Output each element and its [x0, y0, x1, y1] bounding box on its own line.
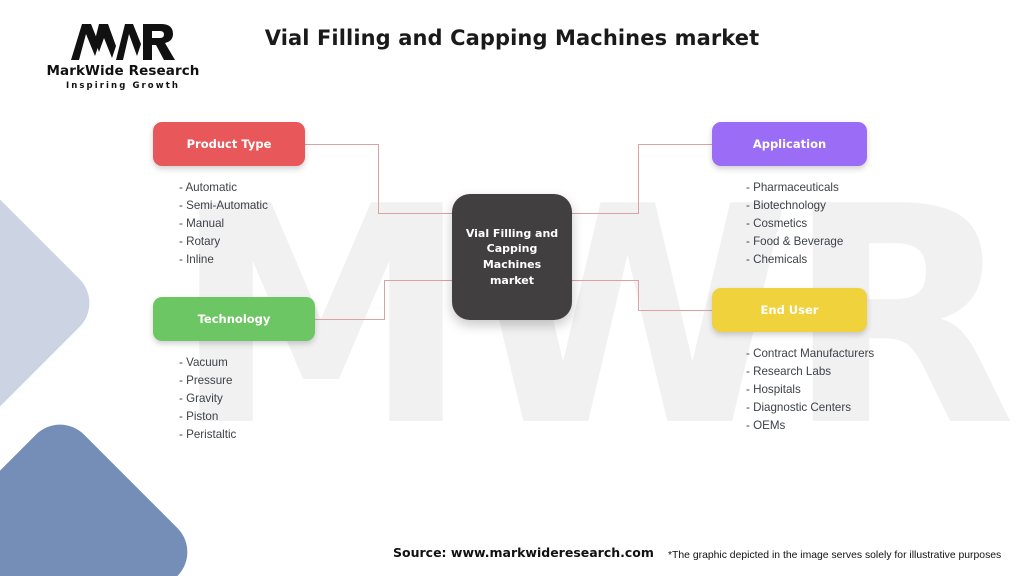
footer-source: Source: www.markwideresearch.com [393, 545, 654, 560]
list-item: - Pressure [179, 372, 315, 390]
node-end-user[interactable]: End User - Contract Manufacturers - Rese… [712, 288, 867, 435]
list-item: - Rotary [179, 233, 305, 251]
node-product-type-list: - Automatic - Semi-Automatic - Manual - … [153, 179, 305, 269]
node-end-user-list: - Contract Manufacturers - Research Labs… [712, 345, 867, 435]
node-application[interactable]: Application - Pharmaceuticals - Biotechn… [712, 122, 867, 269]
node-product-type-header[interactable]: Product Type [153, 122, 305, 166]
footer-disclaimer: *The graphic depicted in the image serve… [668, 550, 1001, 561]
connector-end-user-h2 [638, 310, 714, 311]
list-item: - OEMs [746, 417, 867, 435]
connector-technology-v [384, 280, 385, 320]
connector-end-user-h1 [566, 280, 639, 281]
node-product-type[interactable]: Product Type - Automatic - Semi-Automati… [153, 122, 305, 269]
list-item: - Diagnostic Centers [746, 399, 867, 417]
list-item: - Research Labs [746, 363, 867, 381]
list-item: - Contract Manufacturers [746, 345, 867, 363]
node-technology[interactable]: Technology - Vacuum - Pressure - Gravity… [153, 297, 315, 444]
node-technology-header[interactable]: Technology [153, 297, 315, 341]
list-item: - Vacuum [179, 354, 315, 372]
list-item: - Piston [179, 408, 315, 426]
list-item: - Gravity [179, 390, 315, 408]
decorative-shape-light [0, 155, 103, 452]
list-item: - Semi-Automatic [179, 197, 305, 215]
logo-company-name: MarkWide Research [18, 63, 228, 79]
node-application-header[interactable]: Application [712, 122, 867, 166]
connector-technology-h2 [384, 280, 458, 281]
list-item: - Chemicals [746, 251, 867, 269]
list-item: - Peristaltic [179, 426, 315, 444]
node-technology-list: - Vacuum - Pressure - Gravity - Piston -… [153, 354, 315, 444]
connector-application-h1 [566, 213, 639, 214]
connector-end-user-v [638, 280, 639, 311]
connector-application-h2 [638, 144, 714, 145]
center-node[interactable]: Vial Filling and Capping Machines market [452, 194, 572, 320]
list-item: - Biotechnology [746, 197, 867, 215]
list-item: - Manual [179, 215, 305, 233]
page-title: Vial Filling and Capping Machines market [0, 26, 1024, 50]
logo-tagline: Inspiring Growth [18, 81, 228, 91]
connector-product-type-v [378, 144, 379, 214]
connector-application-v [638, 144, 639, 214]
node-end-user-header[interactable]: End User [712, 288, 867, 332]
list-item: - Pharmaceuticals [746, 179, 867, 197]
connector-product-type-h2 [378, 213, 458, 214]
list-item: - Inline [179, 251, 305, 269]
connector-product-type-h1 [305, 144, 379, 145]
list-item: - Automatic [179, 179, 305, 197]
list-item: - Hospitals [746, 381, 867, 399]
node-application-list: - Pharmaceuticals - Biotechnology - Cosm… [712, 179, 867, 269]
connector-technology-h1 [313, 319, 385, 320]
list-item: - Food & Beverage [746, 233, 867, 251]
list-item: - Cosmetics [746, 215, 867, 233]
